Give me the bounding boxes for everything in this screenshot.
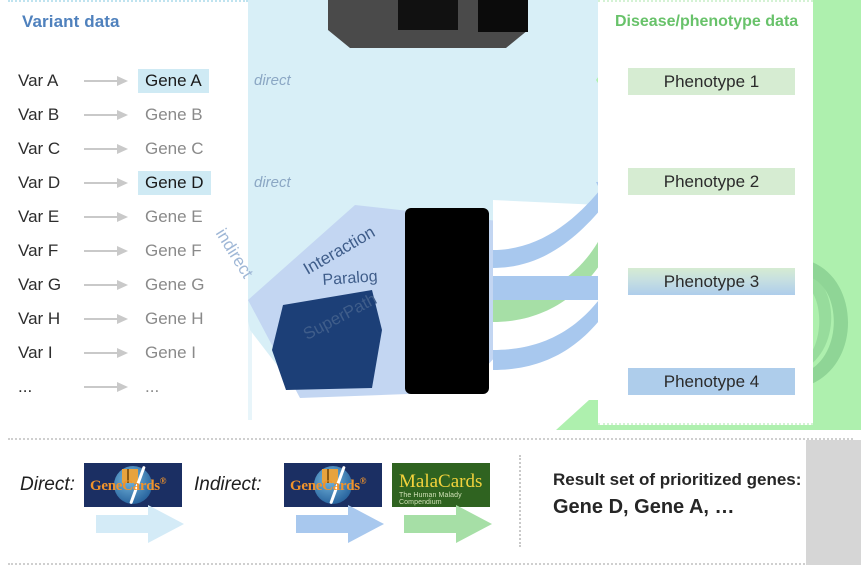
gene-name: Gene A [138, 69, 209, 93]
variant-row: Var CGene C [18, 132, 243, 166]
genecards-logo-direct: GeneCards® [84, 463, 182, 507]
variant-name: Var B [18, 105, 84, 125]
gene-name: Gene G [138, 273, 212, 297]
relation-label: direct [254, 72, 291, 89]
genecards-logo-text: GeneCards® [90, 476, 166, 495]
legend-divider [519, 455, 521, 547]
legend-arrow-direct [96, 505, 188, 545]
variant-name: Var I [18, 343, 84, 363]
legend-indirect-label: Indirect: [194, 474, 262, 496]
diagram-canvas: Variant data Var AGene AdirectVar BGene … [0, 0, 861, 565]
phenotype-box: Phenotype 2 [628, 168, 795, 195]
map-arrow-icon [84, 347, 130, 359]
variant-row: Var FGene F [18, 234, 243, 268]
phenotype-box: Phenotype 1 [628, 68, 795, 95]
variant-name: ... [18, 377, 84, 397]
malacards-logo-text: MalaCards [399, 471, 482, 493]
gene-name: Gene E [138, 205, 210, 229]
map-arrow-icon [84, 279, 130, 291]
variant-row: Var HGene H [18, 302, 243, 336]
phenotype-box: Phenotype 3 [628, 268, 795, 295]
gene-name: Gene H [138, 307, 211, 331]
variant-panel-title: Variant data [22, 12, 120, 32]
legend-arrow-indirect-blue [296, 505, 388, 545]
variant-row: Var DGene D [18, 166, 243, 200]
variant-name: Var G [18, 275, 84, 295]
malacards-logo: MalaCards The Human Malady Compendium [392, 463, 490, 507]
map-arrow-icon [84, 381, 130, 393]
map-arrow-icon [84, 177, 130, 189]
map-arrow-icon [84, 143, 130, 155]
legend-direct-label: Direct: [20, 474, 75, 496]
variant-row: Var EGene E [18, 200, 243, 234]
gene-name: Gene B [138, 103, 210, 127]
map-arrow-icon [84, 245, 130, 257]
map-arrow-icon [84, 75, 130, 87]
variant-name: Var F [18, 241, 84, 261]
legend-arrow-indirect-green [404, 505, 496, 545]
gene-name: Gene F [138, 239, 209, 263]
variant-row: Var IGene I [18, 336, 243, 370]
gene-name: Gene C [138, 137, 211, 161]
variant-name: Var C [18, 139, 84, 159]
result-set-genes: Gene D, Gene A, … [553, 496, 735, 519]
gene-name: Gene D [138, 171, 211, 195]
variant-name: Var A [18, 71, 84, 91]
genecards-logo-indirect: GeneCards® [284, 463, 382, 507]
gene-name: ... [138, 375, 166, 399]
disease-phenotype-panel [598, 0, 813, 425]
map-arrow-icon [84, 313, 130, 325]
variant-name: Var E [18, 207, 84, 227]
legend-gray-band [806, 440, 861, 565]
phenotype-box: Phenotype 4 [628, 368, 795, 395]
variant-row: Var AGene A [18, 64, 243, 98]
label-paralog: Paralog [322, 268, 378, 290]
variant-name: Var H [18, 309, 84, 329]
result-set-title: Result set of prioritized genes: [553, 470, 801, 490]
map-arrow-icon [84, 109, 130, 121]
variant-row: Var BGene B [18, 98, 243, 132]
variant-name: Var D [18, 173, 84, 193]
genecards-logo-text: GeneCards® [290, 476, 366, 495]
relation-label: direct [254, 174, 291, 191]
disease-panel-title: Disease/phenotype data [615, 13, 798, 31]
malacards-logo-subtitle: The Human Malady Compendium [399, 492, 490, 506]
variant-row: ...... [18, 370, 243, 404]
map-arrow-icon [84, 211, 130, 223]
variant-row: Var GGene G [18, 268, 243, 302]
gene-name: Gene I [138, 341, 203, 365]
